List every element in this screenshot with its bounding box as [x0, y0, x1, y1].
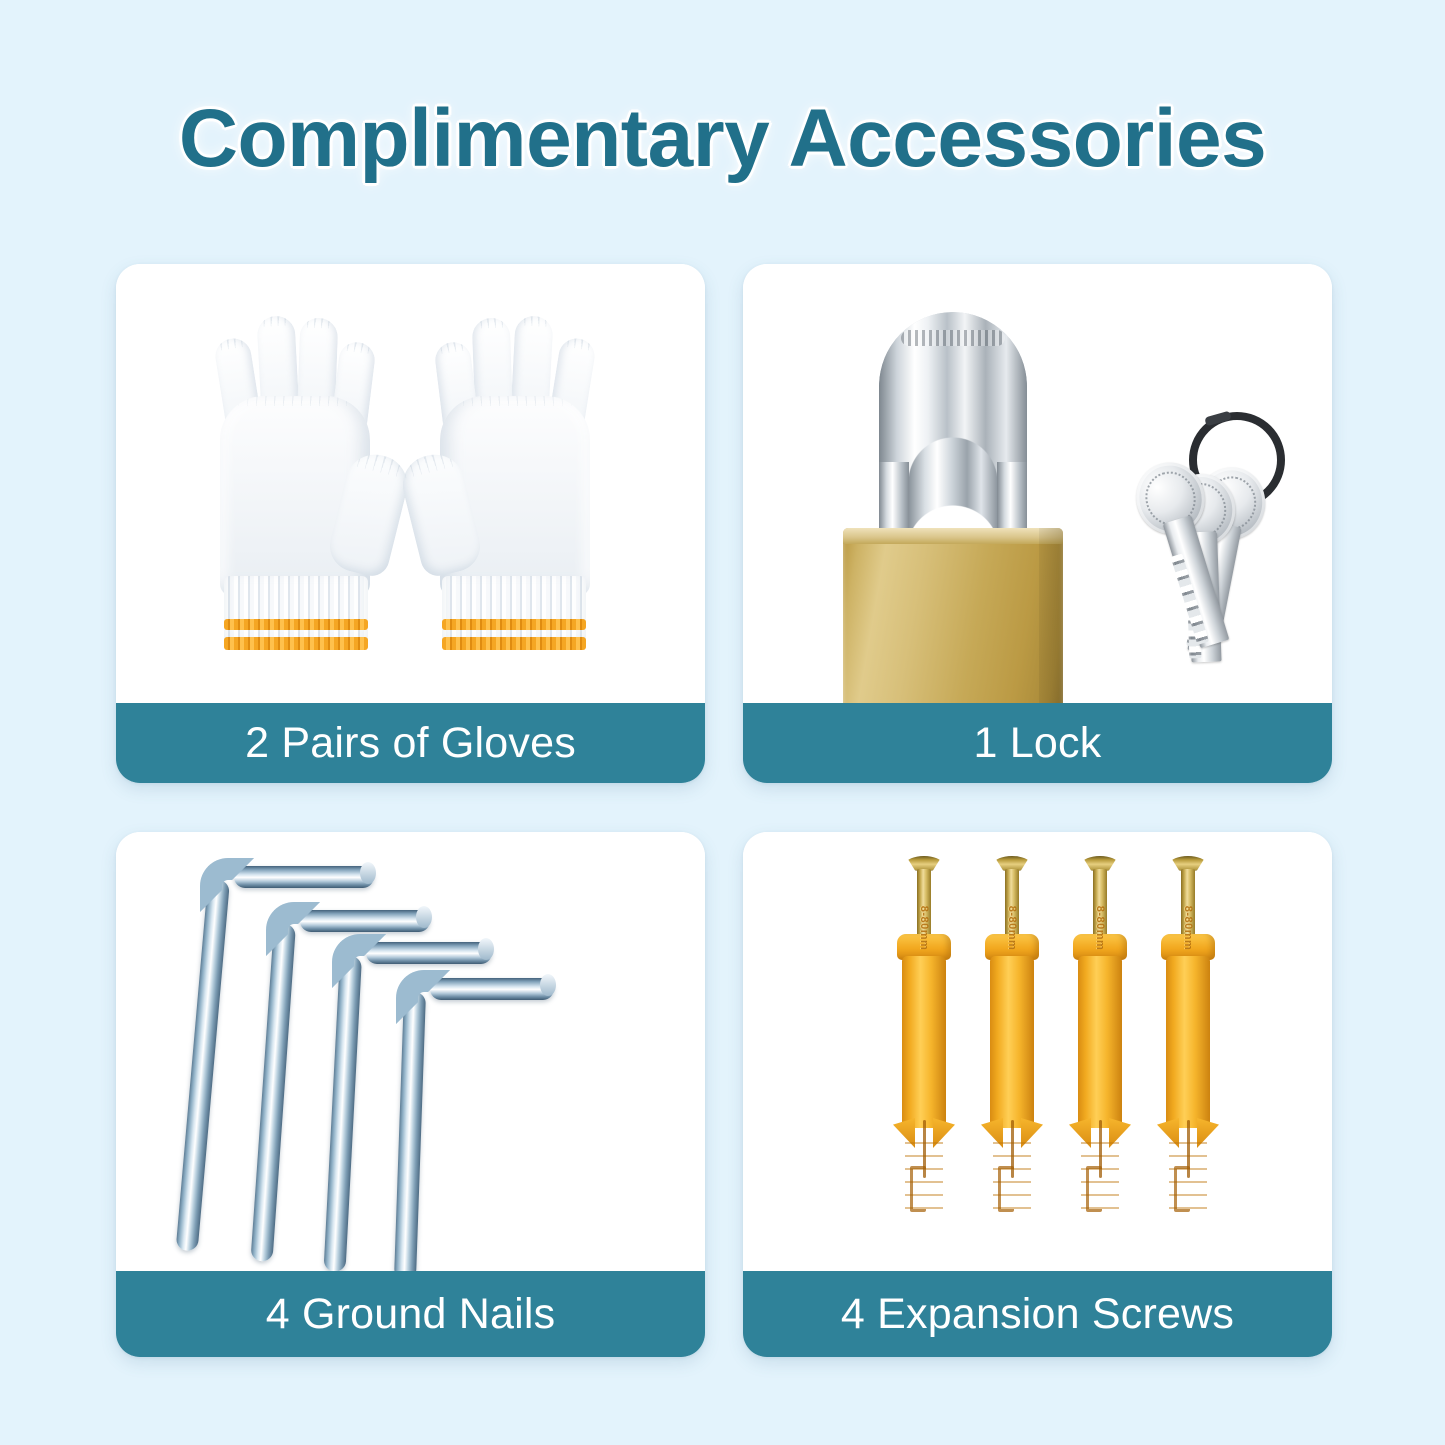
accessory-card-ground-nails[interactable]: 4 Ground Nails	[116, 832, 705, 1357]
lock-image	[743, 264, 1332, 703]
expansion-screw-icon: 8-80mm	[895, 856, 953, 1224]
accessory-card-expansion-screws[interactable]: 8-80mm 8-80mm 8-80mm	[743, 832, 1332, 1357]
accessory-label-gloves: 2 Pairs of Gloves	[116, 703, 705, 783]
glove-right-icon	[416, 304, 616, 664]
expansion-screws-image: 8-80mm 8-80mm 8-80mm	[743, 832, 1332, 1271]
expansion-screws-illustration: 8-80mm 8-80mm 8-80mm	[743, 832, 1332, 1271]
screw-marking-label: 8-80mm	[1094, 906, 1106, 951]
keys-icon	[1103, 412, 1332, 652]
accessory-label-ground-nails: 4 Ground Nails	[116, 1271, 705, 1357]
expansion-screw-icon: 8-80mm	[1159, 856, 1217, 1224]
screw-marking-label: 8-80mm	[1006, 906, 1018, 951]
screw-marking-label: 8-80mm	[918, 906, 930, 951]
padlock-illustration	[743, 264, 1332, 703]
accessory-card-gloves[interactable]: 2 Pairs of Gloves	[116, 264, 705, 783]
expansion-screw-icon: 8-80mm	[1071, 856, 1129, 1224]
accessory-card-lock[interactable]: 1 Lock	[743, 264, 1332, 783]
page-title: Complimentary Accessories	[179, 92, 1266, 186]
key-icon	[1140, 458, 1180, 470]
padlock-icon	[843, 312, 1063, 703]
gloves-illustration	[116, 264, 705, 703]
accessories-grid: 2 Pairs of Gloves	[116, 264, 1332, 1357]
page-header: Complimentary Accessories	[0, 84, 1445, 194]
glove-left-icon	[194, 304, 394, 664]
accessory-label-expansion-screws: 4 Expansion Screws	[743, 1271, 1332, 1357]
screw-marking-label: 8-80mm	[1182, 906, 1194, 951]
ground-nails-illustration	[116, 832, 705, 1271]
accessory-label-lock: 1 Lock	[743, 703, 1332, 783]
ground-nails-image	[116, 832, 705, 1271]
expansion-screw-icon: 8-80mm	[983, 856, 1041, 1224]
gloves-image	[116, 264, 705, 703]
